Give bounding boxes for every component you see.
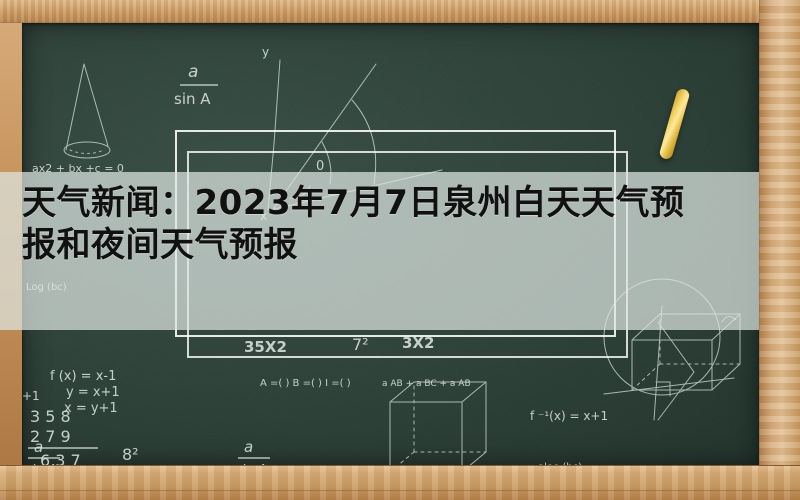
frame-left xyxy=(0,0,22,500)
chalk-ledge xyxy=(0,465,800,500)
chalk-matrices: A =( ) B =( ) I =( ) xyxy=(260,378,351,389)
chalk-fx: f (x) = x-1 xyxy=(50,369,116,384)
chalk-sina-1: sin A xyxy=(174,90,211,108)
chalk-vectors: a AB + a BC + a AB xyxy=(382,379,471,389)
chalk-num-358: 3 5 8 xyxy=(30,407,71,426)
chalk-num-279: 2 7 9 xyxy=(30,427,71,446)
chalk-axis-y-1: y xyxy=(262,45,269,59)
frame-right xyxy=(759,0,800,500)
ledge-grain-line xyxy=(0,490,800,491)
chalk-finv: f ⁻¹(x) = x+1 xyxy=(530,409,608,423)
chalk-y-eq: y = x+1 xyxy=(66,385,120,400)
frame-top xyxy=(0,0,800,23)
chalkboard-cover: a sin A y x 0 ax2 + bx +c = 0 f (x) = x-… xyxy=(0,0,800,500)
page-title-line-1: 天气新闻：2023年7月7日泉州白天天气预 xyxy=(22,182,782,224)
chalk-a-3: a xyxy=(244,438,253,456)
page-title: 天气新闻：2023年7月7日泉州白天天气预 报和夜间天气预报 xyxy=(22,182,782,266)
chalk-a-1: a xyxy=(188,62,198,82)
chalk-8sq: 8² xyxy=(122,445,139,464)
page-title-line-2: 报和夜间天气预报 xyxy=(22,224,782,266)
chalk-x-eq: x = y+1 xyxy=(64,401,118,416)
chalk-num-637: 6 3 7 xyxy=(40,451,81,466)
chalk-plus1: +1 xyxy=(22,389,40,403)
